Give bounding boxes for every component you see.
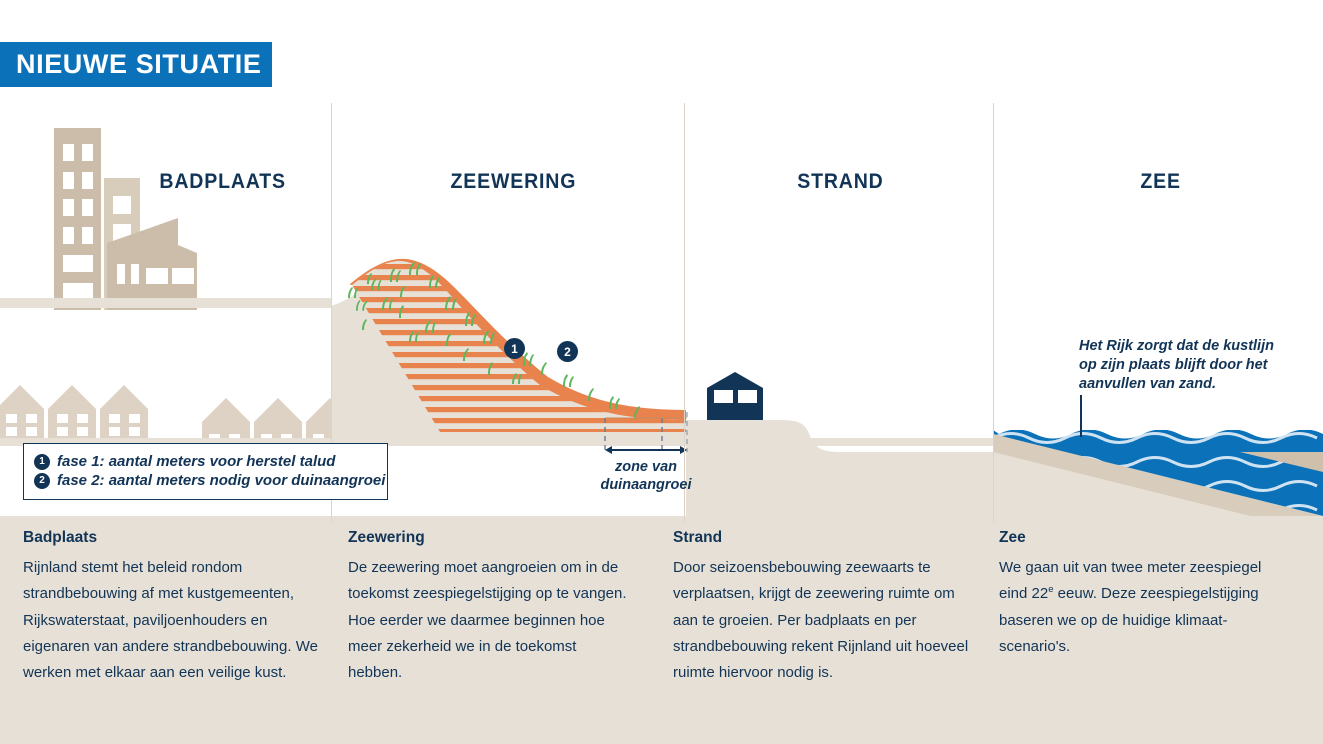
legend-item: 1 fase 1: aantal meters voor herstel tal…	[34, 453, 377, 470]
text-body-strand: Door seizoensbebouwing zeewaarts te verp…	[673, 555, 973, 686]
text-column-zee: Zee We gaan uit van twee meter zeespiege…	[999, 529, 1291, 660]
text-column-strand: Strand Door seizoensbebouwing zeewaarts …	[673, 529, 973, 686]
text-heading-zee: Zee	[999, 529, 1291, 547]
text-body-zee: We gaan uit van twee meter zeespiegel ei…	[999, 555, 1291, 660]
legend-bullet-2: 2	[34, 473, 50, 489]
section-banner: NIEUWE SITUATIE	[0, 42, 272, 87]
phase-marker-2[interactable]: 2	[557, 341, 578, 362]
column-title-zeewering: ZEEWERING	[450, 170, 569, 194]
text-body-badplaats: Rijnland stemt het beleid rondom strandb…	[23, 555, 328, 686]
zone-label-line2: duinaangroei	[566, 476, 726, 494]
legend-label-2: fase 2: aantal meters nodig voor duinaan…	[57, 472, 385, 489]
text-body-zeewering: De zeewering moet aangroeien om in de to…	[348, 555, 633, 686]
infographic-canvas: NIEUWE SITUATIE BADPLAATS ZEEWERING STRA…	[0, 0, 1323, 744]
legend-label-1: fase 1: aantal meters voor herstel talud	[57, 453, 335, 470]
legend-item: 2 fase 2: aantal meters nodig voor duina…	[34, 472, 377, 489]
text-column-badplaats: Badplaats Rijnland stemt het beleid rond…	[23, 529, 328, 686]
text-heading-badplaats: Badplaats	[23, 529, 328, 547]
beach-house-icon	[707, 372, 763, 420]
column-title-strand: STRAND	[797, 170, 883, 194]
phase-marker-1[interactable]: 1	[504, 338, 525, 359]
text-heading-strand: Strand	[673, 529, 973, 547]
legend-bullet-1: 1	[34, 454, 50, 470]
banner-title: NIEUWE SITUATIE	[0, 49, 262, 80]
column-title-zee: ZEE	[1140, 170, 1175, 194]
text-heading-zeewering: Zeewering	[348, 529, 633, 547]
column-title-badplaats: BADPLAATS	[159, 170, 276, 194]
sea-note-text: Het Rijk zorgt dat de kustlijn op zijn p…	[1079, 337, 1294, 394]
column-divider-3	[993, 103, 994, 523]
zone-label: zone van duinaangroei	[566, 458, 726, 494]
legend-box: 1 fase 1: aantal meters voor herstel tal…	[23, 443, 388, 500]
text-column-zeewering: Zeewering De zeewering moet aangroeien o…	[348, 529, 633, 686]
zone-label-line1: zone van	[566, 458, 726, 476]
